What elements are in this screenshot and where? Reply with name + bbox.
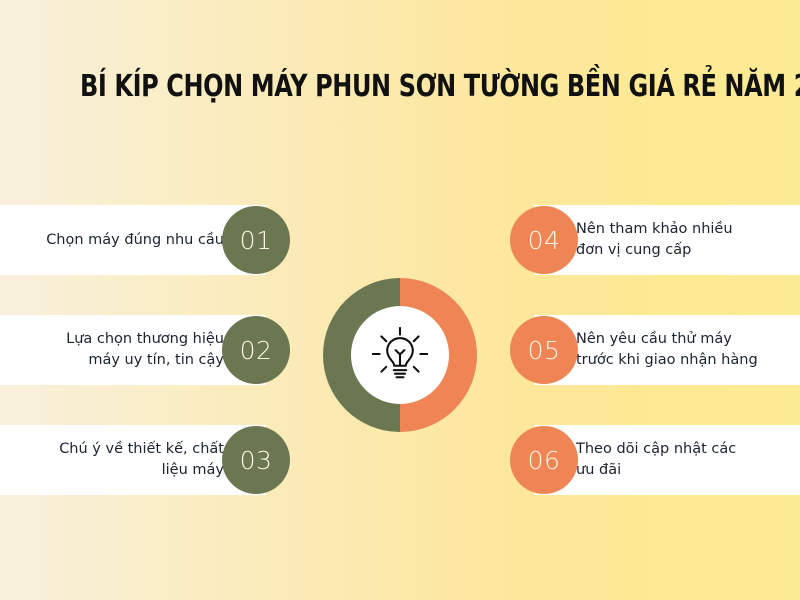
item-text-line: ưu đãi <box>576 460 621 481</box>
item-number-badge: 01 <box>222 206 290 274</box>
item-number-badge: 03 <box>222 426 290 494</box>
item-text: Chọn máy đúng nhu cầu <box>14 205 224 275</box>
center-ring <box>323 278 477 432</box>
item-text: Nên tham khảo nhiều đơn vị cung cấp <box>576 205 786 275</box>
list-item: Nên tham khảo nhiều đơn vị cung cấp 04 <box>500 205 800 275</box>
item-text: Nên yêu cầu thử máy trước khi giao nhận … <box>576 315 786 385</box>
item-text-line: Nên tham khảo nhiều <box>576 219 733 240</box>
item-text-line: Theo dõi cập nhật các <box>576 439 736 460</box>
list-item: Lựa chọn thương hiệu máy uy tín, tin cậy… <box>0 315 300 385</box>
center-ring-inner <box>351 306 449 404</box>
item-text-line: Chọn máy đúng nhu cầu <box>46 230 224 251</box>
list-item: Nên yêu cầu thử máy trước khi giao nhận … <box>500 315 800 385</box>
item-number-label: 02 <box>240 336 273 365</box>
item-text-line: đơn vị cung cấp <box>576 240 691 261</box>
item-text: Lựa chọn thương hiệu máy uy tín, tin cậy <box>14 315 224 385</box>
list-item: Chú ý về thiết kế, chất liệu máy 03 <box>0 425 300 495</box>
item-number-label: 05 <box>528 336 561 365</box>
item-text-line: Chú ý về thiết kế, chất <box>59 439 224 460</box>
page-title: BÍ KÍP CHỌN MÁY PHUN SƠN TƯỜNG BỀN GIÁ R… <box>80 70 720 103</box>
item-number-badge: 04 <box>510 206 578 274</box>
infographic-canvas: BÍ KÍP CHỌN MÁY PHUN SƠN TƯỜNG BỀN GIÁ R… <box>0 0 800 600</box>
item-number-label: 01 <box>240 226 273 255</box>
item-text-line: liệu máy <box>162 460 224 481</box>
item-number-badge: 02 <box>222 316 290 384</box>
item-text-line: trước khi giao nhận hàng <box>576 350 758 371</box>
item-number-label: 03 <box>240 446 273 475</box>
item-text-line: Lựa chọn thương hiệu <box>66 329 224 350</box>
lightbulb-icon <box>369 324 431 386</box>
list-item: Chọn máy đúng nhu cầu 01 <box>0 205 300 275</box>
item-number-badge: 05 <box>510 316 578 384</box>
item-number-label: 04 <box>528 226 561 255</box>
item-number-badge: 06 <box>510 426 578 494</box>
item-number-label: 06 <box>528 446 561 475</box>
item-text: Chú ý về thiết kế, chất liệu máy <box>14 425 224 495</box>
item-text-line: máy uy tín, tin cậy <box>88 350 224 371</box>
item-text-line: Nên yêu cầu thử máy <box>576 329 732 350</box>
item-text: Theo dõi cập nhật các ưu đãi <box>576 425 786 495</box>
list-item: Theo dõi cập nhật các ưu đãi 06 <box>500 425 800 495</box>
